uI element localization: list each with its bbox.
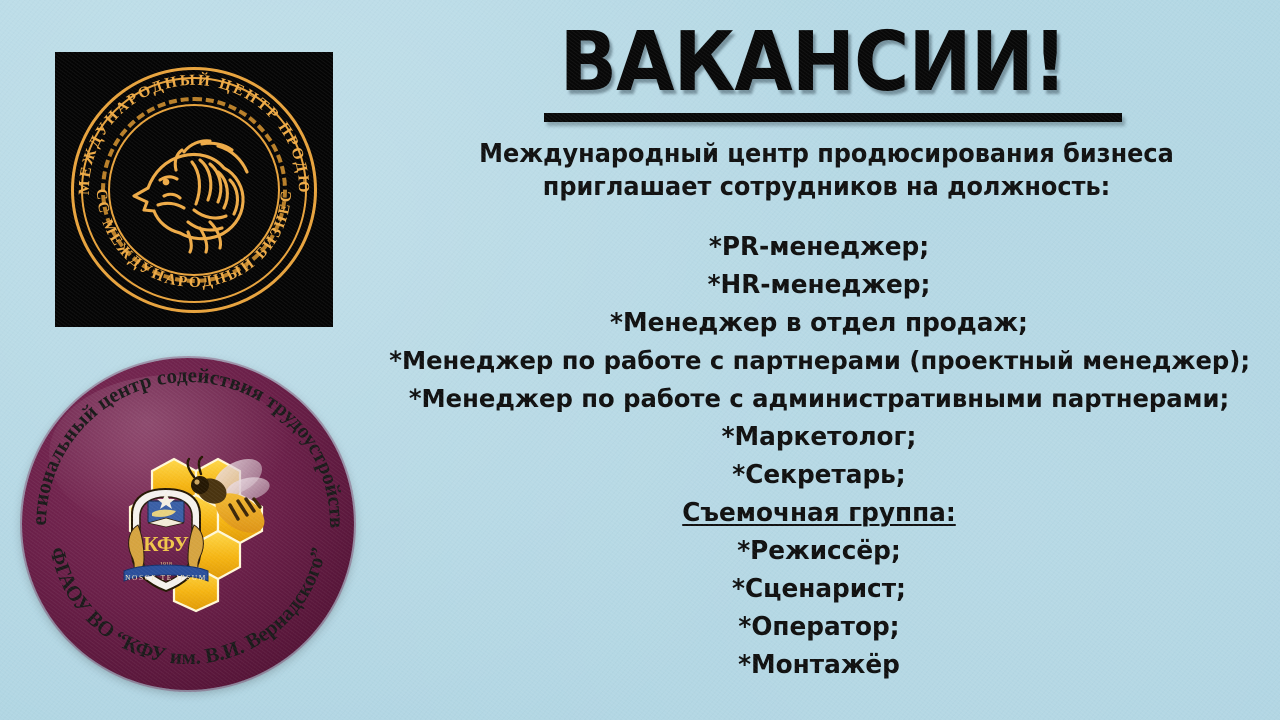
subtitle-line-2: приглашает сотрудников на должность: xyxy=(433,171,1220,204)
list-item: *Менеджер по работе с административными … xyxy=(389,380,1248,418)
kfu-monogram: КФУ xyxy=(143,532,189,556)
kfu-motto: NOSCE TE IPSUM xyxy=(125,573,207,582)
list-item: *Режиссёр; xyxy=(389,532,1248,570)
subtitle: Международный центр продюсирования бизне… xyxy=(433,138,1220,203)
list-item: *Менеджер по работе с партнерами (проект… xyxy=(389,342,1248,380)
subtitle-line-1: Международный центр продюсирования бизне… xyxy=(433,138,1220,171)
list-item: *Сценарист; xyxy=(389,570,1248,608)
list-item: *Менеджер в отдел продаж; xyxy=(389,304,1248,342)
list-item: *PR-менеджер; xyxy=(389,228,1248,266)
slide-canvas: МЕЖДУНАРОДНЫЙ ЦЕНТР ПРОДЮ АСС МЕЖДУНАРОД… xyxy=(0,0,1280,720)
title-underline xyxy=(544,113,1122,122)
kfu-coat-of-arms: КФУ 1918 NOSCE TE IPSUM xyxy=(124,489,208,591)
vacancy-list: *PR-менеджер; *HR-менеджер; *Менеджер в … xyxy=(376,228,1262,684)
lion-head-icon xyxy=(114,110,274,270)
list-group-heading: Съемочная группа: xyxy=(389,494,1248,532)
lion-emblem-logo: МЕЖДУНАРОДНЫЙ ЦЕНТР ПРОДЮ АСС МЕЖДУНАРОД… xyxy=(55,52,333,327)
page-title: ВАКАНСИИ! xyxy=(404,22,1223,104)
content-column: ВАКАНСИИ! Международный центр продюсиров… xyxy=(368,0,1280,720)
list-item: *Монтажёр xyxy=(389,646,1248,684)
list-item: *Оператор; xyxy=(389,608,1248,646)
list-item: *HR-менеджер; xyxy=(389,266,1248,304)
kfu-honeycomb-bee-crest: КФУ 1918 NOSCE TE IPSUM xyxy=(88,435,288,613)
kfu-employment-center-logo: Региональный центр содействия трудоустро… xyxy=(22,358,354,690)
list-item: *Секретарь; xyxy=(389,456,1248,494)
list-item: *Маркетолог; xyxy=(389,418,1248,456)
